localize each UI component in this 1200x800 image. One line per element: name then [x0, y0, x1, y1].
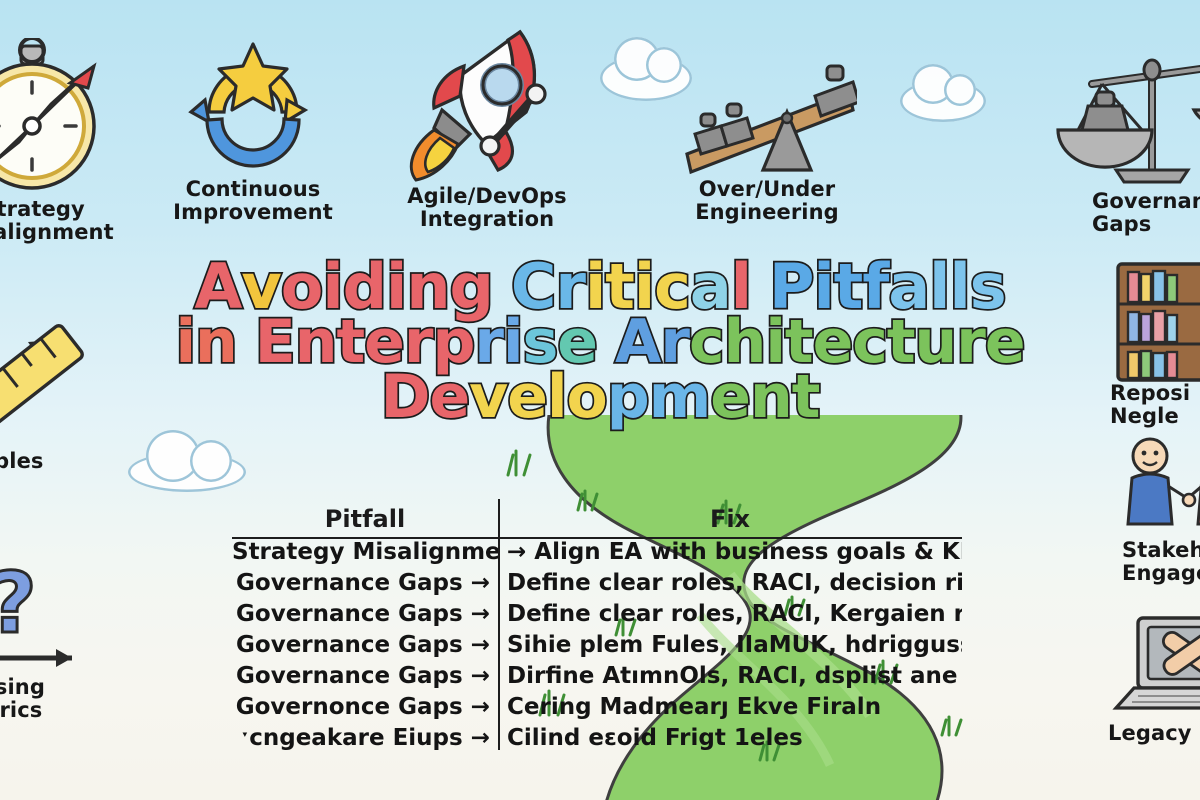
- icon-tile-repository-neglect: Reposi Negle: [1110, 262, 1200, 427]
- title-letter: A: [615, 315, 660, 370]
- stakeholders-icon: [1122, 434, 1200, 539]
- title-letter: l: [731, 258, 751, 315]
- title-letter: t: [834, 258, 863, 315]
- title-letter: r: [956, 315, 985, 370]
- balance-scale-icon: [1030, 30, 1200, 190]
- title-letter: p: [432, 315, 474, 370]
- cell-fix: Define clear roles, RACI, Kergaien righd: [498, 601, 962, 627]
- cell-pitfall: Governonce Gaps →: [232, 694, 498, 720]
- title-letter: i: [175, 315, 195, 370]
- icon-label: Reposi Negle: [1110, 382, 1200, 427]
- title-letter: C: [511, 258, 556, 315]
- bookshelf-icon: [1110, 262, 1200, 382]
- icon-tile-strategy-misalignment: Strategy Misalignment: [0, 38, 128, 243]
- cell-pitfall: ˑcngeakare Eiups →: [232, 725, 498, 751]
- cell-fix: Dirfine AtımnOls, RACI, dsplist ane: [498, 663, 962, 689]
- table-header-row: Pitfall Fix: [232, 497, 962, 533]
- icon-label: Principles: [0, 450, 126, 473]
- title-letter: v: [241, 258, 280, 315]
- title-letter: a: [888, 258, 929, 315]
- title-letter: e: [985, 315, 1025, 370]
- title-letter: s: [970, 258, 1006, 315]
- table-row: Strategy Misalignment→ Align EA with bus…: [232, 539, 962, 570]
- title-word: Critical: [511, 258, 751, 315]
- icon-tile-continuous-improvement: Continuous Improvement: [163, 38, 343, 223]
- icon-tile-missing-metrics: ? Missing Metrics: [0, 566, 144, 721]
- table-row: ˑcngeakare Eiups →Cilind eɛoid Frigt 1el…: [232, 725, 962, 756]
- title-word: Architecture: [615, 315, 1025, 370]
- title-letter: r: [474, 315, 503, 370]
- title-letter: a: [690, 258, 731, 315]
- column-header-pitfall: Pitfall: [232, 505, 498, 533]
- cell-pitfall: Strategy Misalignment: [232, 539, 498, 565]
- title-letter: i: [322, 258, 342, 315]
- compass-icon: [0, 38, 113, 198]
- table-body: Strategy Misalignment→ Align EA with bus…: [232, 539, 962, 756]
- icon-label: Legacy: [1108, 722, 1200, 745]
- title-letter: c: [852, 315, 887, 370]
- title-letter: r: [660, 315, 689, 370]
- icon-tile-governance-gaps: Governance Gaps: [1030, 30, 1200, 235]
- title-letter: i: [585, 258, 605, 315]
- cell-pitfall: Governance Gaps →: [232, 663, 498, 689]
- seesaw-icon: [677, 38, 857, 178]
- title-line-2: inEnterpriseArchitecture: [0, 315, 1200, 370]
- cell-fix: Define clear roles, RACI, decision right…: [498, 570, 962, 596]
- title-letter: r: [555, 258, 585, 315]
- icon-label: Missing Metrics: [0, 676, 144, 721]
- table-row: Governance Gaps →Define clear roles, RAC…: [232, 570, 962, 601]
- cell-fix: Sihie plem Fules, IIaMUK, hdrigguss: [498, 632, 962, 658]
- table-row: Governance Gaps →Sihie plem Fules, IIaMU…: [232, 632, 962, 663]
- title-letter: i: [386, 258, 406, 315]
- poster-canvas: Strategy Misalignment Continuous Improve…: [0, 0, 1200, 800]
- title-word: in: [175, 315, 236, 370]
- title-letter: i: [634, 258, 654, 315]
- cell-pitfall: Governance Gaps →: [232, 632, 498, 658]
- title-letter: o: [281, 258, 323, 315]
- column-header-fix: Fix: [498, 505, 962, 533]
- title-word: Enterprise: [255, 315, 597, 370]
- title-letter: u: [915, 315, 957, 370]
- icon-tile-stakeholder-engagement: Stakeh Engage: [1122, 434, 1200, 584]
- title-letter: P: [769, 258, 813, 315]
- title-letter: c: [689, 315, 724, 370]
- title-letter: E: [255, 315, 295, 370]
- table-row: Governonce Gaps →Cering Madmearȷ Ekve Fi…: [232, 694, 962, 725]
- rocket-icon: [402, 20, 572, 185]
- column-divider: [498, 499, 500, 750]
- title-letter: A: [194, 258, 241, 315]
- cell-fix: Cering Madmearȷ Ekve Firaln: [498, 694, 962, 720]
- cell-pitfall: Governance Gaps →: [232, 601, 498, 627]
- icon-label: Agile/DevOps Integration: [392, 185, 582, 230]
- title-letter: r: [404, 315, 433, 370]
- title-letter: n: [295, 315, 337, 370]
- question-mark-icon: ?: [0, 566, 114, 676]
- title-letter: s: [523, 315, 558, 370]
- title-letter: l: [949, 258, 969, 315]
- title-letter: i: [813, 258, 833, 315]
- svg-text:?: ?: [0, 566, 37, 652]
- title-word: Pitfalls: [769, 258, 1006, 315]
- title-letter: t: [605, 258, 634, 315]
- table-row: Governance Gaps →Dirfine AtımnOls, RACI,…: [232, 663, 962, 694]
- icon-label: Continuous Improvement: [163, 178, 343, 223]
- legacy-laptop-icon: [1108, 612, 1200, 722]
- icon-tile-legacy: Legacy: [1108, 612, 1200, 745]
- table-row: Governance Gaps →Define clear roles, RAC…: [232, 601, 962, 632]
- title-letter: t: [887, 315, 915, 370]
- icon-label: Strategy Misalignment: [0, 198, 128, 243]
- title-letter: t: [336, 315, 364, 370]
- title-letter: i: [503, 315, 523, 370]
- pitfall-fix-table: Pitfall Fix Strategy Misalignment→ Align…: [232, 497, 962, 756]
- title-word: Avoiding: [194, 258, 492, 315]
- title-line-1: AvoidingCriticalPitfalls: [0, 258, 1200, 315]
- icon-tile-principles: Principles: [0, 300, 126, 473]
- cloud-icon: [900, 80, 986, 122]
- icon-label: Governance Gaps: [1030, 190, 1200, 235]
- icon-label: Stakeh Engage: [1122, 539, 1200, 584]
- title-letter: g: [449, 258, 492, 315]
- title-letter: d: [343, 258, 386, 315]
- title-letter: f: [862, 258, 888, 315]
- title-letter: D: [381, 370, 430, 425]
- title-letter: h: [724, 315, 766, 370]
- title-letter: l: [929, 258, 949, 315]
- icon-label: Over/Under Engineering: [672, 178, 862, 223]
- ruler-icon: [0, 300, 126, 450]
- title-letter: e: [557, 315, 597, 370]
- title-letter: t: [785, 315, 813, 370]
- cell-fix: → Align EA with business goals & KPIs: [498, 539, 962, 565]
- icon-tile-over-under-engineering: Over/Under Engineering: [672, 38, 862, 223]
- title-letter: e: [813, 315, 853, 370]
- cloud-icon: [128, 452, 246, 492]
- refresh-cycle-icon: [183, 38, 323, 178]
- icon-tile-agile-devops: Agile/DevOps Integration: [392, 20, 582, 230]
- title-letter: i: [765, 315, 785, 370]
- cell-fix: Cilind eɛoid Frigt 1eles: [498, 725, 962, 751]
- title-letter: e: [364, 315, 404, 370]
- cell-pitfall: Governance Gaps →: [232, 570, 498, 596]
- title-letter: c: [654, 258, 690, 315]
- title-letter: n: [195, 315, 237, 370]
- page-title: AvoidingCriticalPitfallsinEnterpriseArch…: [0, 258, 1200, 425]
- title-letter: n: [406, 258, 449, 315]
